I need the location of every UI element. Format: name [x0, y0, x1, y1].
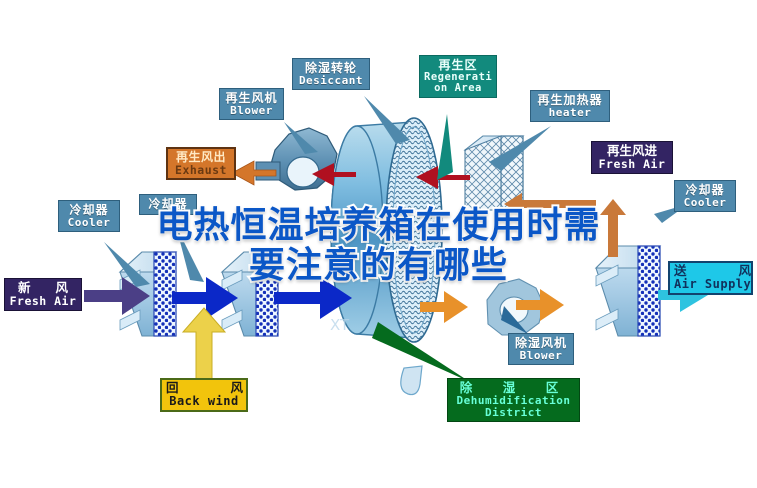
page-title-line-1: 电热恒温培养箱在使用时需 [0, 206, 757, 246]
label-regen-heater-cn: 再生加热器 [535, 94, 605, 107]
label-dehumidification-blower[interactable]: 除湿风机 Blower [508, 333, 574, 365]
label-regen-area-en1: Regenerati [424, 72, 492, 83]
label-exhaust-cn: 再生风出 [172, 151, 230, 164]
label-dehum-blower-cn: 除湿风机 [513, 337, 569, 350]
label-back-wind[interactable]: 回 风 Back wind [160, 378, 248, 412]
diagram-canvas: XT [0, 0, 757, 488]
label-dehum-en1: Dehumidification [452, 395, 575, 407]
label-cooler-right-cn: 冷却器 [679, 184, 731, 197]
label-regen-area-en2: on Area [424, 83, 492, 94]
label-back-wind-en: Back wind [166, 395, 242, 408]
label-regen-area-cn: 再生区 [424, 59, 492, 72]
svg-text:XT: XT [330, 316, 350, 334]
page-title: 电热恒温培养箱在使用时需 要注意的有哪些 [0, 206, 757, 287]
label-desiccant-en: Desiccant [297, 75, 365, 87]
label-exhaust[interactable]: 再生风出 Exhaust [166, 147, 236, 180]
label-regeneration-blower[interactable]: 再生风机 Blower [219, 88, 284, 120]
label-regen-blower-en: Blower [224, 105, 279, 117]
label-regeneration-heater[interactable]: 再生加热器 heater [530, 90, 610, 122]
label-regen-fresh-en: Fresh Air [596, 158, 668, 170]
label-exhaust-en: Exhaust [172, 164, 230, 176]
label-desiccant-cn: 除湿转轮 [297, 62, 365, 75]
label-dehum-en2: District [452, 407, 575, 419]
label-dehumidification-district[interactable]: 除 湿 区 Dehumidification District [447, 378, 580, 422]
label-regeneration-area[interactable]: 再生区 Regenerati on Area [419, 55, 497, 98]
label-regeneration-fresh-air[interactable]: 再生风进 Fresh Air [591, 141, 673, 174]
label-desiccant[interactable]: 除湿转轮 Desiccant [292, 58, 370, 90]
label-dehum-blower-en: Blower [513, 350, 569, 362]
label-fresh-air-en: Fresh Air [9, 295, 77, 307]
label-regen-blower-cn: 再生风机 [224, 92, 279, 105]
page-title-line-2: 要注意的有哪些 [0, 246, 757, 286]
back-wind-arrow [183, 308, 225, 380]
label-regen-heater-en: heater [535, 107, 605, 119]
